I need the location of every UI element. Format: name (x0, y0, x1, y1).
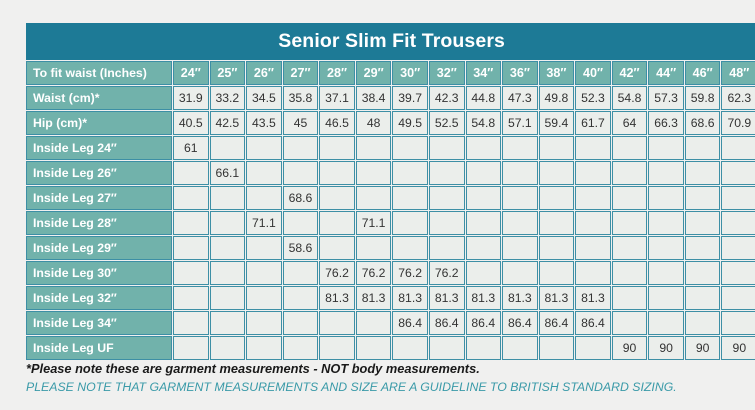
measurement-cell: 86.4 (466, 311, 502, 335)
measurement-cell (721, 186, 755, 210)
measurement-row-label: Waist (cm)* (26, 86, 172, 110)
measurement-cell (173, 161, 209, 185)
measurement-cell (466, 211, 502, 235)
measurement-cell (648, 286, 684, 310)
measurement-cell: 61 (173, 136, 209, 160)
measurement-cell (721, 161, 755, 185)
measurement-cell (648, 311, 684, 335)
measurement-cell (502, 236, 538, 260)
measurement-cell (173, 286, 209, 310)
measurement-cell: 86.4 (575, 311, 611, 335)
measurement-cell (356, 236, 392, 260)
measurement-cell (685, 211, 721, 235)
measurement-cell (283, 211, 319, 235)
measurement-cell: 57.1 (502, 111, 538, 135)
measurement-cell (502, 261, 538, 285)
measurement-row-label: Inside Leg UF (26, 336, 172, 360)
measurement-cell (575, 186, 611, 210)
measurement-cell: 54.8 (612, 86, 648, 110)
measurement-cell (466, 161, 502, 185)
size-column-header: 34″ (466, 61, 502, 85)
measurement-cell (283, 311, 319, 335)
table-body: Waist (cm)*31.933.234.535.837.138.439.74… (26, 86, 755, 360)
measurement-cell (283, 286, 319, 310)
measurement-cell: 52.5 (429, 111, 465, 135)
measurement-cell: 90 (721, 336, 755, 360)
measurement-cell (685, 236, 721, 260)
size-column-header: 28″ (319, 61, 355, 85)
table-row: Waist (cm)*31.933.234.535.837.138.439.74… (26, 86, 755, 110)
size-chart-page: Senior Slim Fit Trousers To fit waist (I… (0, 0, 755, 410)
measurement-cell (392, 211, 428, 235)
size-column-header: 26″ (246, 61, 282, 85)
measurement-row-label: Inside Leg 26″ (26, 161, 172, 185)
measurement-cell (612, 186, 648, 210)
table-row: Inside Leg UF90909090 (26, 336, 755, 360)
measurement-cell: 49.8 (539, 86, 575, 110)
measurement-cell (173, 211, 209, 235)
measurement-cell (429, 236, 465, 260)
measurement-cell (246, 236, 282, 260)
measurement-cell: 44.8 (466, 86, 502, 110)
measurement-cell (612, 161, 648, 185)
measurement-cell (648, 136, 684, 160)
table-row: Inside Leg 26″66.1 (26, 161, 755, 185)
measurement-cell: 81.3 (392, 286, 428, 310)
measurement-cell (356, 311, 392, 335)
measurement-cell (319, 186, 355, 210)
measurement-cell (319, 336, 355, 360)
measurement-cell (429, 161, 465, 185)
measurement-cell (283, 161, 319, 185)
measurement-cell (575, 211, 611, 235)
measurement-cell (575, 336, 611, 360)
table-row: Inside Leg 27″68.6 (26, 186, 755, 210)
size-column-header: 36″ (502, 61, 538, 85)
measurement-cell: 57.3 (648, 86, 684, 110)
measurement-cell (612, 286, 648, 310)
measurement-cell (466, 236, 502, 260)
measurement-cell (502, 136, 538, 160)
measurement-cell: 81.3 (466, 286, 502, 310)
measurement-cell (173, 311, 209, 335)
measurement-cell (502, 336, 538, 360)
measurement-cell: 49.5 (392, 111, 428, 135)
table-row: Inside Leg 24″61 (26, 136, 755, 160)
measurement-cell (502, 211, 538, 235)
measurement-cell (319, 211, 355, 235)
measurement-cell: 81.3 (575, 286, 611, 310)
measurement-cell: 31.9 (173, 86, 209, 110)
measurement-cell: 86.4 (502, 311, 538, 335)
measurement-cell: 68.6 (283, 186, 319, 210)
size-column-header: 25″ (210, 61, 246, 85)
measurement-cell (173, 236, 209, 260)
measurement-cell: 76.2 (392, 261, 428, 285)
note-british-standard-sizing: PLEASE NOTE THAT GARMENT MEASUREMENTS AN… (26, 380, 736, 394)
measurement-cell: 64 (612, 111, 648, 135)
measurement-cell: 90 (685, 336, 721, 360)
measurement-cell (721, 261, 755, 285)
size-column-header: 32″ (429, 61, 465, 85)
size-column-header: 44″ (648, 61, 684, 85)
measurement-cell (392, 136, 428, 160)
measurement-cell (648, 236, 684, 260)
measurement-cell (356, 161, 392, 185)
measurement-row-label: Inside Leg 34″ (26, 311, 172, 335)
measurement-cell (246, 136, 282, 160)
measurement-cell: 70.9 (721, 111, 755, 135)
measurement-cell (173, 336, 209, 360)
measurement-cell: 43.5 (246, 111, 282, 135)
measurement-cell (392, 336, 428, 360)
measurement-cell: 76.2 (356, 261, 392, 285)
measurement-cell: 76.2 (429, 261, 465, 285)
measurement-cell: 86.4 (392, 311, 428, 335)
size-column-header: 27″ (283, 61, 319, 85)
measurement-cell: 33.2 (210, 86, 246, 110)
measurement-cell: 71.1 (356, 211, 392, 235)
table-row: Inside Leg 30″76.276.276.276.2 (26, 261, 755, 285)
size-column-header: 46″ (685, 61, 721, 85)
measurement-row-label: Inside Leg 28″ (26, 211, 172, 235)
measurement-cell (685, 136, 721, 160)
measurement-cell (429, 136, 465, 160)
measurement-cell (685, 261, 721, 285)
measurement-cell (612, 136, 648, 160)
measurement-cell: 90 (648, 336, 684, 360)
measurement-cell (466, 136, 502, 160)
measurement-cell (246, 286, 282, 310)
measurement-cell: 66.1 (210, 161, 246, 185)
measurement-cell: 46.5 (319, 111, 355, 135)
title-row: Senior Slim Fit Trousers (26, 23, 755, 60)
measurement-cell (392, 186, 428, 210)
table-row: Inside Leg 28″71.171.1 (26, 211, 755, 235)
measurement-cell: 86.4 (539, 311, 575, 335)
measurement-cell (502, 186, 538, 210)
measurement-cell (429, 336, 465, 360)
measurement-cell (466, 261, 502, 285)
measurement-row-label: Inside Leg 32″ (26, 286, 172, 310)
measurement-cell (539, 236, 575, 260)
measurement-cell (539, 136, 575, 160)
measurement-cell (648, 211, 684, 235)
measurement-cell (210, 211, 246, 235)
measurement-cell: 61.7 (575, 111, 611, 135)
measurement-cell (392, 236, 428, 260)
measurement-cell: 59.8 (685, 86, 721, 110)
measurement-cell (466, 186, 502, 210)
measurement-cell: 37.1 (319, 86, 355, 110)
measurement-cell: 90 (612, 336, 648, 360)
measurement-cell (210, 136, 246, 160)
measurement-cell: 81.3 (539, 286, 575, 310)
measurement-cell: 81.3 (502, 286, 538, 310)
measurement-cell (210, 236, 246, 260)
note-garment-measurements: *Please note these are garment measureme… (26, 361, 736, 376)
measurement-cell (283, 336, 319, 360)
measurement-cell (319, 311, 355, 335)
measurement-row-label: Inside Leg 30″ (26, 261, 172, 285)
measurement-cell (721, 286, 755, 310)
size-chart-container: Senior Slim Fit Trousers To fit waist (I… (25, 22, 740, 361)
measurement-cell (648, 261, 684, 285)
measurement-cell: 81.3 (356, 286, 392, 310)
measurement-cell (539, 261, 575, 285)
measurement-cell: 39.7 (392, 86, 428, 110)
chart-title: Senior Slim Fit Trousers (26, 23, 755, 60)
measurement-row-label: Inside Leg 24″ (26, 136, 172, 160)
measurement-cell (685, 186, 721, 210)
measurement-cell (210, 311, 246, 335)
measurement-cell: 86.4 (429, 311, 465, 335)
measurement-cell (356, 136, 392, 160)
measurement-cell: 71.1 (246, 211, 282, 235)
table-head: Senior Slim Fit Trousers To fit waist (I… (26, 23, 755, 85)
measurement-cell: 81.3 (429, 286, 465, 310)
table-row: Hip (cm)*40.542.543.54546.54849.552.554.… (26, 111, 755, 135)
measurement-cell (173, 261, 209, 285)
measurement-cell (502, 161, 538, 185)
measurement-cell: 58.6 (283, 236, 319, 260)
measurement-cell (283, 136, 319, 160)
measurement-cell (539, 211, 575, 235)
measurement-cell (575, 261, 611, 285)
measurement-cell (721, 136, 755, 160)
size-column-header: 48″ (721, 61, 755, 85)
measurement-cell (210, 186, 246, 210)
table-row: Inside Leg 34″86.486.486.486.486.486.4 (26, 311, 755, 335)
measurement-cell: 66.3 (648, 111, 684, 135)
measurement-cell (173, 186, 209, 210)
measurement-cell (210, 261, 246, 285)
measurement-cell: 76.2 (319, 261, 355, 285)
measurement-cell (283, 261, 319, 285)
measurement-cell: 35.8 (283, 86, 319, 110)
measurement-cell (356, 186, 392, 210)
measurement-row-label: Hip (cm)* (26, 111, 172, 135)
measurement-cell: 42.3 (429, 86, 465, 110)
measurement-cell: 48 (356, 111, 392, 135)
measurement-cell (356, 336, 392, 360)
size-header-row: To fit waist (Inches) 24″25″26″27″28″29″… (26, 61, 755, 85)
measurement-cell (246, 186, 282, 210)
measurement-cell (575, 136, 611, 160)
size-column-header: 24″ (173, 61, 209, 85)
measurement-cell: 68.6 (685, 111, 721, 135)
measurement-cell: 81.3 (319, 286, 355, 310)
measurement-cell (539, 161, 575, 185)
size-column-header: 38″ (539, 61, 575, 85)
table-row: Inside Leg 32″81.381.381.381.381.381.381… (26, 286, 755, 310)
measurement-cell (685, 311, 721, 335)
measurement-cell: 59.4 (539, 111, 575, 135)
measurement-cell (575, 236, 611, 260)
measurement-cell (685, 286, 721, 310)
size-chart-table: Senior Slim Fit Trousers To fit waist (I… (25, 22, 755, 361)
measurement-cell (612, 236, 648, 260)
measurement-cell (466, 336, 502, 360)
measurement-cell (246, 311, 282, 335)
measurement-cell (721, 211, 755, 235)
measurement-cell (319, 236, 355, 260)
measurement-cell: 52.3 (575, 86, 611, 110)
row-header-label: To fit waist (Inches) (26, 61, 172, 85)
measurement-cell (392, 161, 428, 185)
measurement-cell (648, 161, 684, 185)
measurement-cell (246, 161, 282, 185)
size-column-header: 42″ (612, 61, 648, 85)
measurement-cell (612, 261, 648, 285)
table-row: Inside Leg 29″58.6 (26, 236, 755, 260)
measurement-cell (539, 186, 575, 210)
size-column-header: 40″ (575, 61, 611, 85)
measurement-cell: 42.5 (210, 111, 246, 135)
measurement-cell (539, 336, 575, 360)
measurement-cell: 40.5 (173, 111, 209, 135)
measurement-cell: 45 (283, 111, 319, 135)
measurement-cell (246, 261, 282, 285)
measurement-row-label: Inside Leg 27″ (26, 186, 172, 210)
measurement-cell (429, 186, 465, 210)
size-column-header: 29″ (356, 61, 392, 85)
measurement-cell: 62.3 (721, 86, 755, 110)
measurement-row-label: Inside Leg 29″ (26, 236, 172, 260)
measurement-cell (319, 136, 355, 160)
measurement-cell (612, 211, 648, 235)
measurement-cell (210, 286, 246, 310)
footer-notes: *Please note these are garment measureme… (26, 361, 736, 394)
measurement-cell (612, 311, 648, 335)
measurement-cell (246, 336, 282, 360)
measurement-cell (648, 186, 684, 210)
measurement-cell (685, 161, 721, 185)
measurement-cell (721, 311, 755, 335)
measurement-cell: 34.5 (246, 86, 282, 110)
measurement-cell: 38.4 (356, 86, 392, 110)
measurement-cell: 54.8 (466, 111, 502, 135)
measurement-cell (575, 161, 611, 185)
size-column-header: 30″ (392, 61, 428, 85)
measurement-cell: 47.3 (502, 86, 538, 110)
measurement-cell (429, 211, 465, 235)
measurement-cell (721, 236, 755, 260)
measurement-cell (319, 161, 355, 185)
measurement-cell (210, 336, 246, 360)
